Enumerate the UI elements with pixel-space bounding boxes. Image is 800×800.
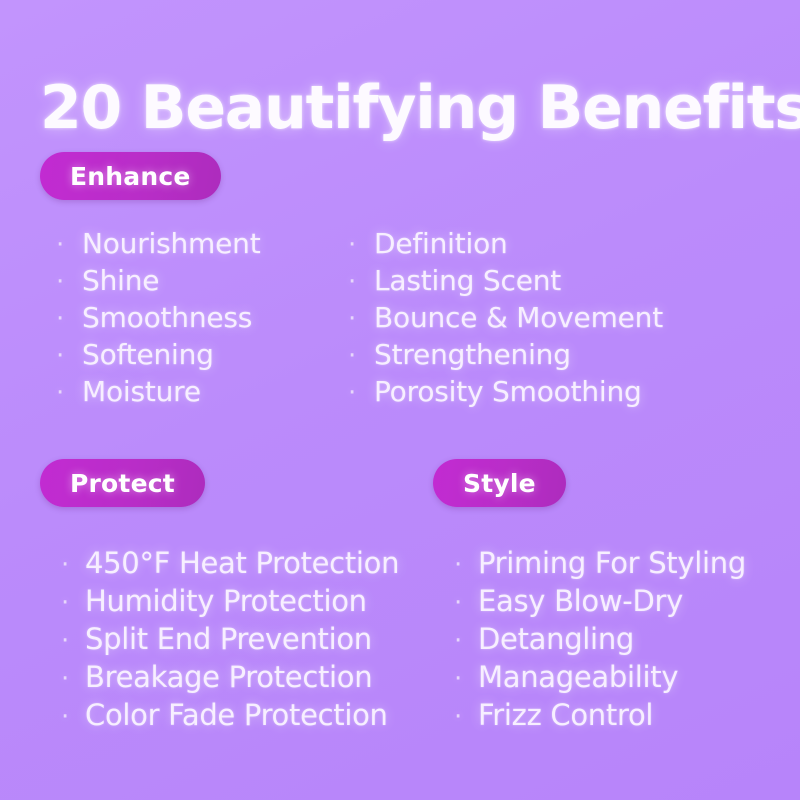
list-item: · Nourishment	[56, 226, 260, 263]
bullet-icon: ·	[61, 661, 85, 697]
list-item: · Manageability	[454, 659, 746, 697]
list-item-label: Easy Blow-Dry	[478, 583, 683, 619]
bullet-icon: ·	[454, 661, 478, 697]
list-item: · Humidity Protection	[61, 583, 399, 621]
list-item-label: Moisture	[82, 374, 201, 410]
list-item-label: Smoothness	[82, 300, 252, 336]
list-item-label: Split End Prevention	[85, 621, 372, 657]
list-item-label: Shine	[82, 263, 159, 299]
bullet-icon: ·	[56, 264, 82, 300]
list-item-label: Humidity Protection	[85, 583, 367, 619]
bullet-icon: ·	[348, 301, 374, 337]
list-item-label: Manageability	[478, 659, 678, 695]
bullet-icon: ·	[348, 375, 374, 411]
list-item: · Color Fade Protection	[61, 697, 399, 735]
list-item-label: Detangling	[478, 621, 634, 657]
list-item-label: 450°F Heat Protection	[85, 545, 399, 581]
list-item-label: Lasting Scent	[374, 263, 561, 299]
benefit-list-enhance-column-2: · Definition · Lasting Scent · Bounce & …	[348, 226, 663, 411]
list-item: · Definition	[348, 226, 663, 263]
list-item: · Strengthening	[348, 337, 663, 374]
list-item-label: Definition	[374, 226, 508, 262]
section-badge-style: Style	[433, 459, 566, 507]
list-item: · Shine	[56, 263, 260, 300]
list-item: · Frizz Control	[454, 697, 746, 735]
bullet-icon: ·	[56, 301, 82, 337]
bullet-icon: ·	[61, 623, 85, 659]
list-item-label: Frizz Control	[478, 697, 653, 733]
list-item-label: Priming For Styling	[478, 545, 746, 581]
bullet-icon: ·	[56, 227, 82, 263]
bullet-icon: ·	[56, 338, 82, 374]
bullet-icon: ·	[61, 699, 85, 735]
list-item: · Bounce & Movement	[348, 300, 663, 337]
list-item: · Easy Blow-Dry	[454, 583, 746, 621]
bullet-icon: ·	[61, 547, 85, 583]
page-title: 20 Beautifying Benefits!	[40, 76, 770, 140]
list-item: · Smoothness	[56, 300, 260, 337]
list-item: · 450°F Heat Protection	[61, 545, 399, 583]
bullet-icon: ·	[454, 623, 478, 659]
list-item-label: Color Fade Protection	[85, 697, 388, 733]
list-item-label: Breakage Protection	[85, 659, 372, 695]
section-badge-enhance: Enhance	[40, 152, 221, 200]
benefit-list-style: · Priming For Styling · Easy Blow-Dry · …	[454, 545, 746, 735]
list-item: · Split End Prevention	[61, 621, 399, 659]
list-item: · Moisture	[56, 374, 260, 411]
list-item: · Porosity Smoothing	[348, 374, 663, 411]
section-badge-protect: Protect	[40, 459, 205, 507]
bullet-icon: ·	[348, 227, 374, 263]
benefit-list-enhance-column-1: · Nourishment · Shine · Smoothness · Sof…	[56, 226, 260, 411]
bullet-icon: ·	[454, 585, 478, 621]
benefits-poster: 20 Beautifying Benefits! Enhance · Nouri…	[0, 0, 800, 800]
bullet-icon: ·	[61, 585, 85, 621]
list-item: · Priming For Styling	[454, 545, 746, 583]
list-item-label: Porosity Smoothing	[374, 374, 642, 410]
bullet-icon: ·	[348, 264, 374, 300]
bullet-icon: ·	[56, 375, 82, 411]
bullet-icon: ·	[454, 547, 478, 583]
list-item: · Detangling	[454, 621, 746, 659]
list-item-label: Bounce & Movement	[374, 300, 663, 336]
benefit-list-protect: · 450°F Heat Protection · Humidity Prote…	[61, 545, 399, 735]
list-item-label: Nourishment	[82, 226, 260, 262]
bullet-icon: ·	[348, 338, 374, 374]
list-item: · Breakage Protection	[61, 659, 399, 697]
list-item: · Lasting Scent	[348, 263, 663, 300]
list-item-label: Strengthening	[374, 337, 571, 373]
list-item-label: Softening	[82, 337, 214, 373]
bullet-icon: ·	[454, 699, 478, 735]
list-item: · Softening	[56, 337, 260, 374]
